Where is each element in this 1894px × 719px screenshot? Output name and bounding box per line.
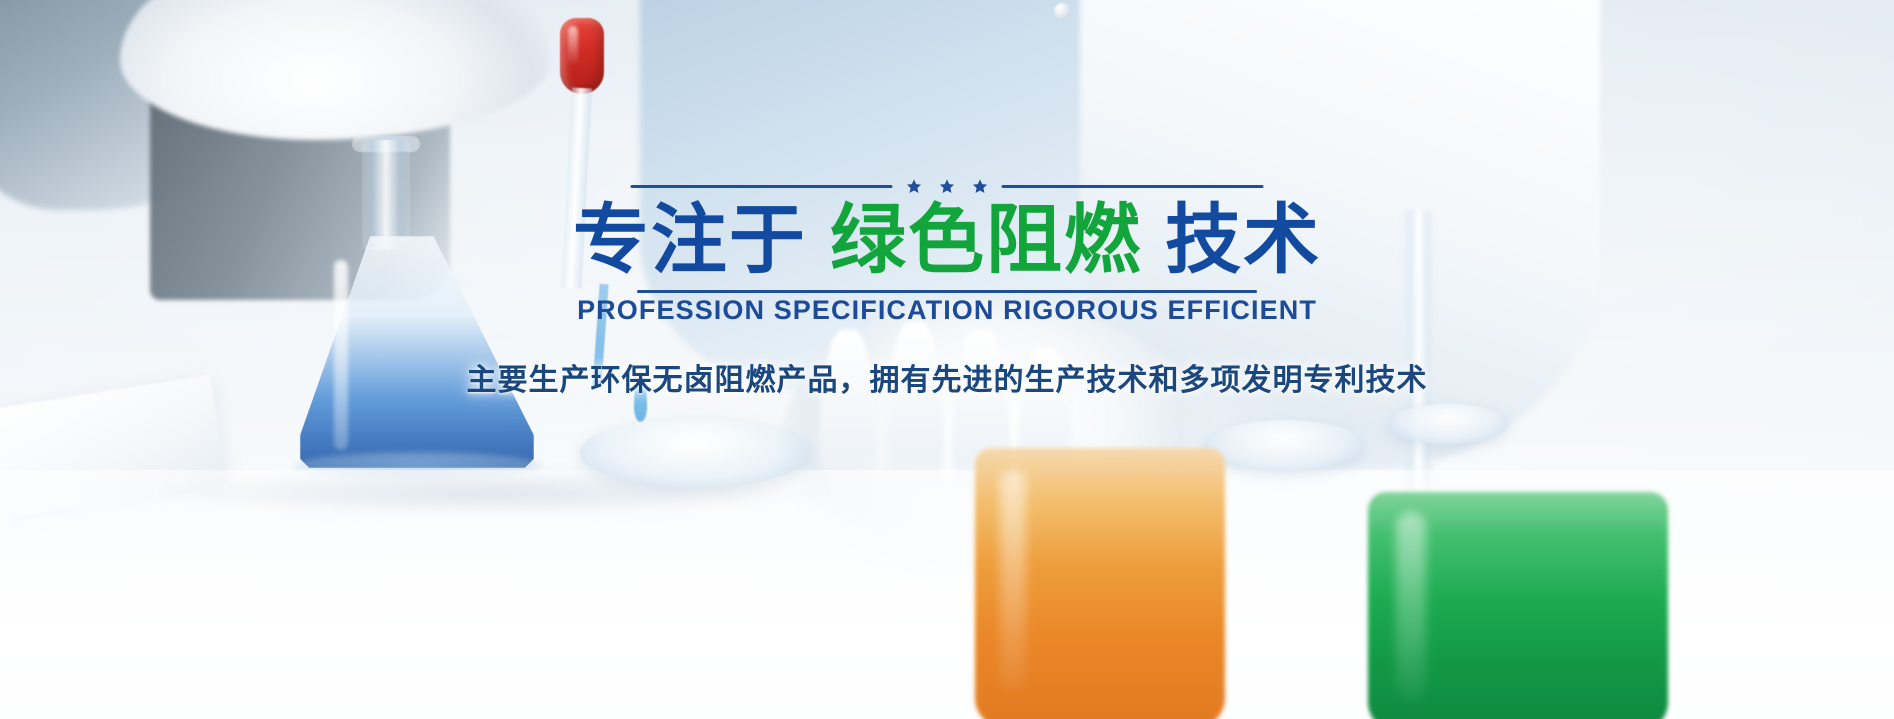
headline-part-2: 绿色阻燃 — [830, 198, 1142, 283]
banner-root: 专注于 绿色阻燃 技术 PROFESSION SPECIFICATION RIG… — [0, 0, 1894, 719]
headline-part-1: 专注于 — [573, 198, 830, 283]
subtitle: PROFESSION SPECIFICATION RIGOROUS EFFICI… — [577, 293, 1317, 327]
divider-rule-right — [1002, 185, 1264, 188]
star-icon — [972, 178, 989, 195]
star-icon — [906, 178, 923, 195]
decorative-divider — [631, 178, 1264, 195]
tagline: 主要生产环保无卤阻燃产品，拥有先进的生产技术和多项发明专利技术 — [467, 360, 1428, 402]
star-icon — [939, 178, 956, 195]
page-title: 专注于 绿色阻燃 技术 — [573, 198, 1321, 284]
star-group — [906, 178, 989, 195]
headline-part-3: 技术 — [1142, 198, 1321, 283]
banner-content: 专注于 绿色阻燃 技术 PROFESSION SPECIFICATION RIG… — [0, 0, 1894, 719]
divider-rule-left — [631, 185, 893, 188]
